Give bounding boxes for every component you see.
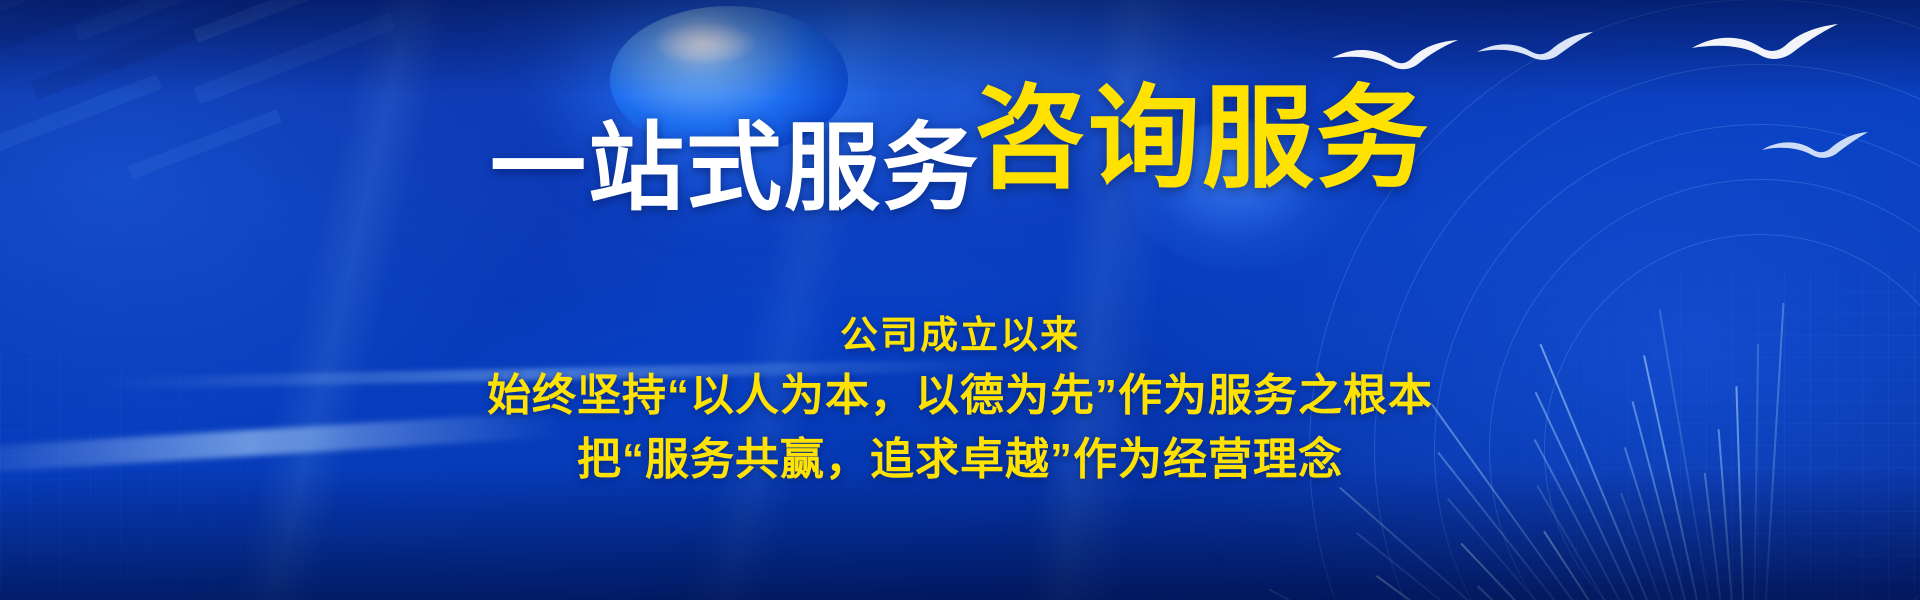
promo-banner: 一站式服务 咨询服务 公司成立以来 始终坚持“以人为本，以德为先”作为服务之根本… — [0, 0, 1920, 600]
body-copy-group: 公司成立以来 始终坚持“以人为本，以德为先”作为服务之根本 把“服务共赢，追求卓… — [0, 312, 1920, 488]
body-line-1: 公司成立以来 — [0, 312, 1920, 361]
headline-white: 一站式服务 — [490, 121, 980, 217]
headline-yellow: 咨询服务 — [974, 83, 1430, 195]
headline-group: 一站式服务 咨询服务 — [0, 86, 1920, 216]
body-line-3: 把“服务共赢，追求卓越”作为经营理念 — [0, 431, 1920, 488]
seagull-icon — [1690, 22, 1840, 62]
seagull-icon — [1475, 30, 1595, 62]
body-line-2: 始终坚持“以人为本，以德为先”作为服务之根本 — [0, 367, 1920, 424]
seagull-icon — [1330, 38, 1460, 72]
